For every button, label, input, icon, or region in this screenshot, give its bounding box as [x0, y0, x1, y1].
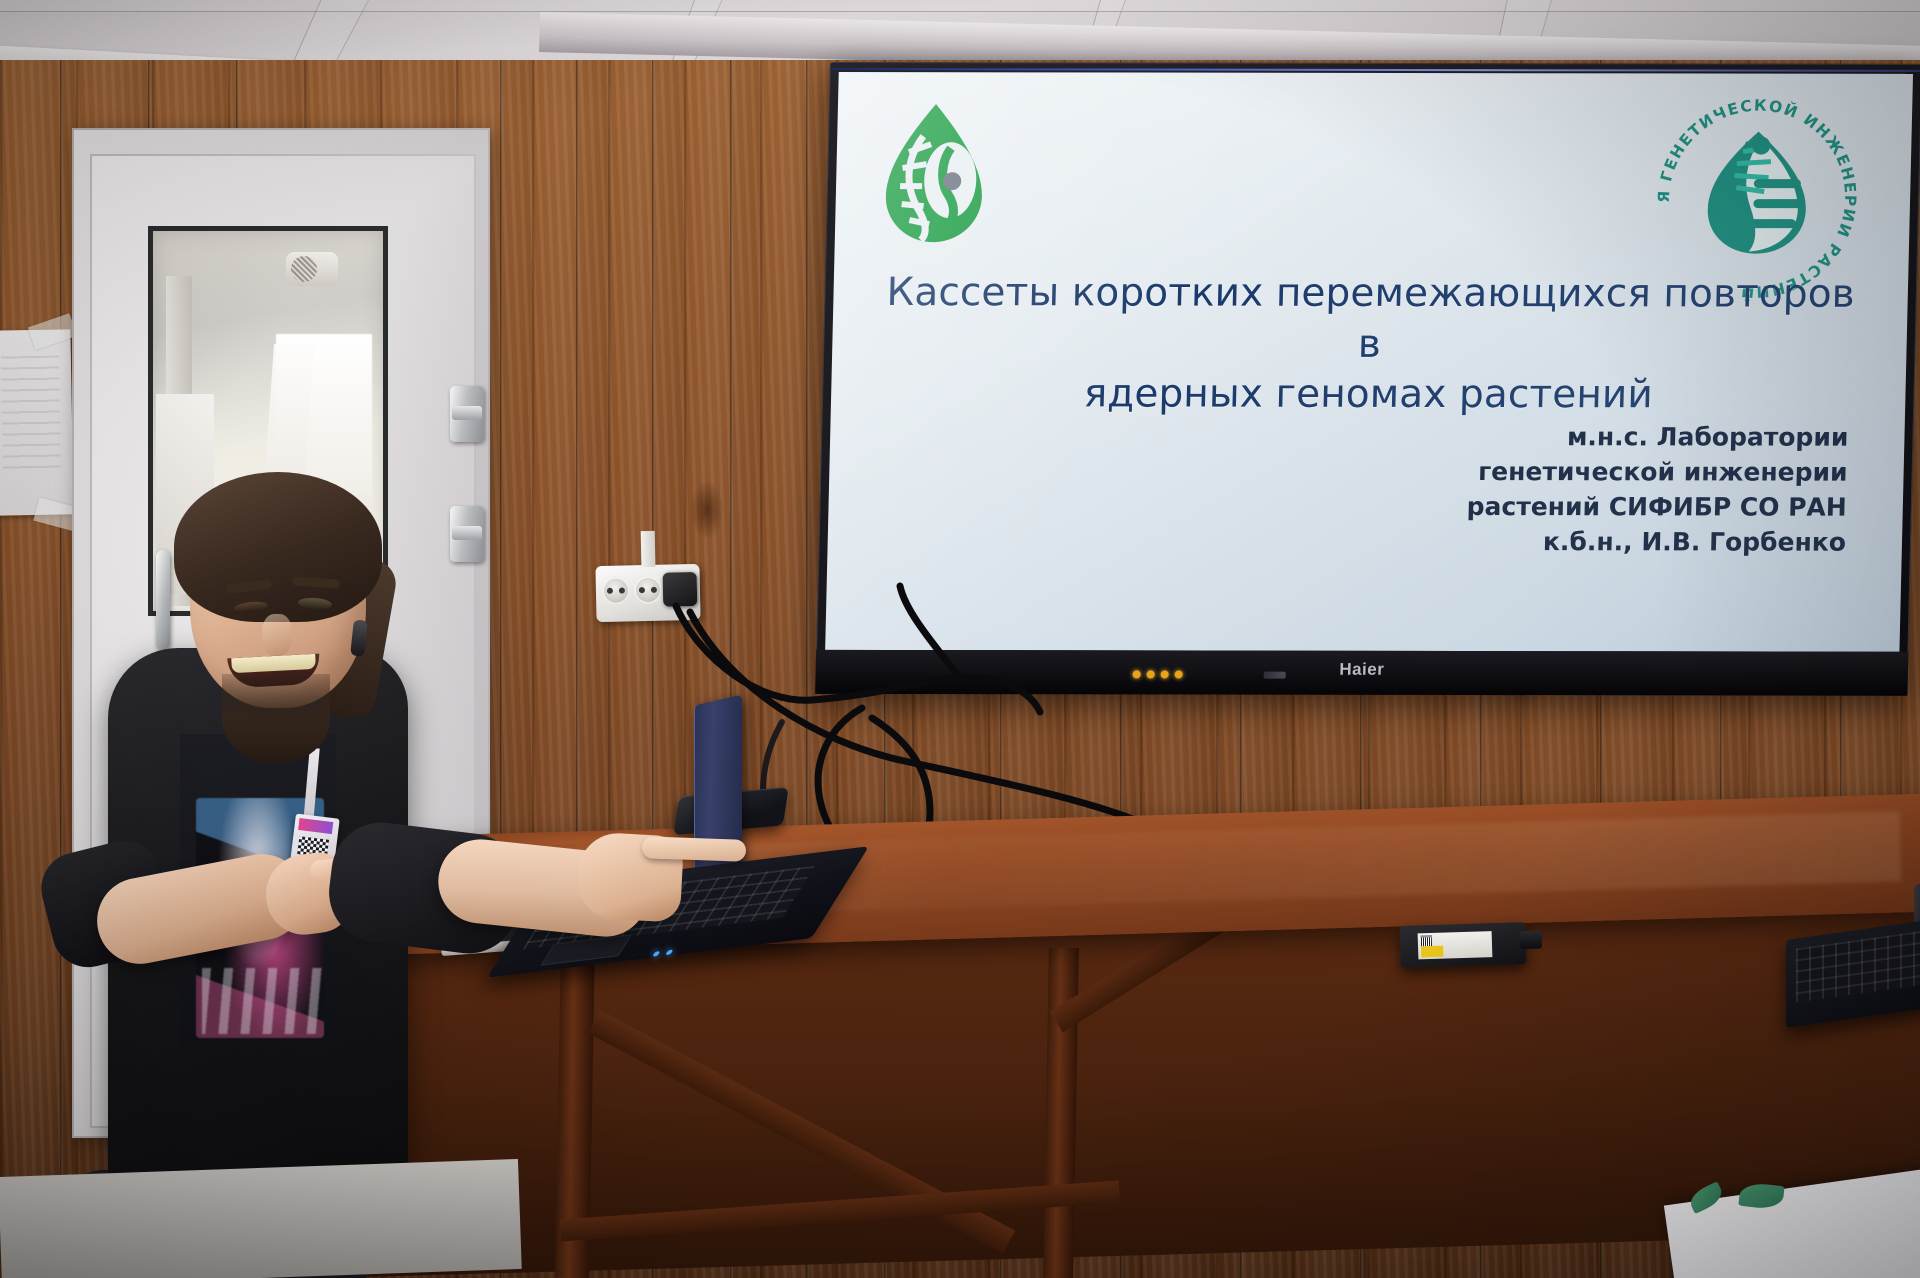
- wall-mounted-tv: ЛАБОРАТОРИЯ ГЕНЕТИЧЕСКОЙ ИНЖЕНЕРИИ РАСТЕ…: [815, 62, 1920, 696]
- adapter-connector: [1520, 931, 1543, 950]
- person-hair: [174, 472, 382, 622]
- person-nose: [262, 614, 292, 658]
- tv-brand-label: Haier: [1339, 660, 1385, 680]
- slide-subtitle-line-2: генетической инженерии: [1467, 454, 1848, 490]
- photo-scene: ЛАБОРАТОРИЯ ГЕНЕТИЧЕСКОЙ ИНЖЕНЕРИИ РАСТЕ…: [0, 0, 1920, 1278]
- power-plug[interactable]: [663, 572, 698, 607]
- person-goatee: [222, 674, 330, 764]
- second-laptop[interactable]: [1786, 900, 1920, 1030]
- ventilation-fan-icon: [286, 252, 338, 286]
- tv-chin-bar: Haier: [815, 650, 1908, 696]
- presentation-slide: ЛАБОРАТОРИЯ ГЕНЕТИЧЕСКОЙ ИНЖЕНЕРИИ РАСТЕ…: [825, 72, 1913, 652]
- leaf-dna-logo: [877, 102, 992, 244]
- power-adapter[interactable]: [1399, 922, 1526, 968]
- tv-screen: ЛАБОРАТОРИЯ ГЕНЕТИЧЕСКОЙ ИНЖЕНЕРИИ РАСТЕ…: [825, 72, 1913, 652]
- slide-subtitle-line-4: к.б.н., И.В. Горбенко: [1465, 524, 1846, 560]
- slide-subtitle-line-3: растений СИФИБР СО РАН: [1466, 489, 1847, 525]
- person-pointing-finger-right: [642, 836, 747, 862]
- slide-title-line-2: ядерных геномах растений: [871, 369, 1866, 421]
- slide-title: Кассеты коротких перемежающихся повторов…: [871, 268, 1869, 422]
- tv-indicator-leds: [1132, 670, 1182, 678]
- slide-title-line-1: Кассеты коротких перемежающихся повторов…: [872, 268, 1869, 371]
- second-laptop-keyboard[interactable]: [1796, 927, 1920, 1002]
- slide-subtitle: м.н.с. Лаборатории генетической инженери…: [1465, 419, 1848, 560]
- second-laptop-base[interactable]: [1786, 916, 1920, 1028]
- adapter-label: [1418, 931, 1493, 959]
- tshirt-graphic-text: [202, 968, 322, 1034]
- wall-paper-note: [0, 329, 74, 515]
- floor: [0, 1159, 522, 1278]
- slide-subtitle-line-1: м.н.с. Лаборатории: [1468, 419, 1849, 455]
- person: [30, 498, 650, 1278]
- door-hinge-upper: [450, 386, 484, 442]
- tv-ir-sensor: [1263, 672, 1285, 679]
- person-teeth: [231, 654, 316, 673]
